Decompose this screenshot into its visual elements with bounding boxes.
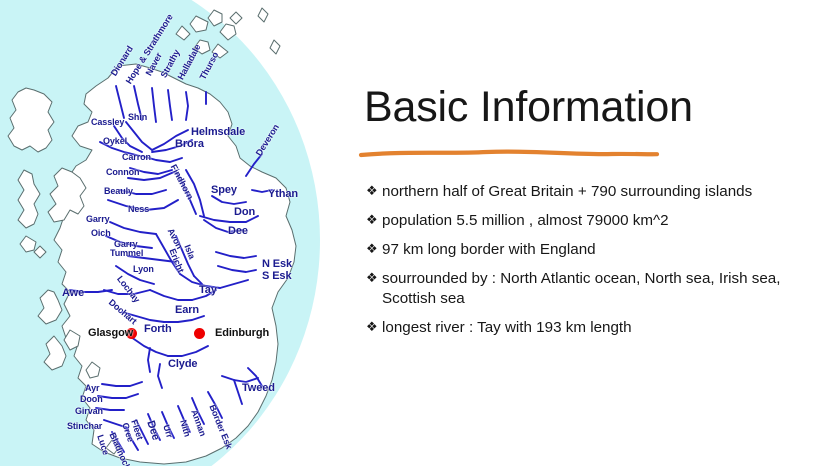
city-marker-dot (194, 328, 205, 339)
river-label: Cassley (91, 117, 124, 127)
river-label: Garry (86, 214, 110, 224)
river-label: Dee (228, 225, 248, 237)
river-label: Spey (211, 184, 237, 196)
river-label: Don (234, 206, 255, 218)
city-label: Glasgow (88, 327, 133, 339)
page-title: Basic Information (364, 83, 693, 132)
river-label: Tummel (110, 248, 143, 258)
diamond-bullet-icon: ❖ (366, 211, 382, 229)
river-label: N Esk (262, 258, 292, 270)
bullet-text: longest river : Tay with 193 km length (382, 318, 818, 338)
river-label: Forth (144, 323, 172, 335)
bullet-text: northern half of Great Britain + 790 sur… (382, 182, 818, 202)
diamond-bullet-icon: ❖ (366, 318, 382, 336)
river-label: Lyon (133, 264, 154, 274)
diamond-bullet-icon: ❖ (366, 240, 382, 258)
river-label: Ayr (85, 383, 99, 393)
slide-canvas: DionardHope & StrathmoreNaverStrathyHall… (0, 0, 828, 466)
bullet-text: sourrounded by : North Atlantic ocean, N… (382, 269, 818, 309)
river-label: S Esk (262, 270, 291, 282)
bullet-item: ❖97 km long border with England (366, 240, 818, 260)
river-label: Carron (122, 152, 151, 162)
river-label: Connon (106, 167, 139, 177)
river-label: Ness (128, 204, 149, 214)
river-label: Beauly (104, 186, 133, 196)
bullet-item: ❖northern half of Great Britain + 790 su… (366, 182, 818, 202)
river-label: Stinchar (67, 421, 102, 431)
bullet-text: 97 km long border with England (382, 240, 818, 260)
bullet-text: population 5.5 million , almost 79000 km… (382, 211, 818, 231)
river-label: Girvan (75, 406, 103, 416)
river-label: Brora (175, 138, 204, 150)
river-label: Oich (91, 228, 111, 238)
river-label: Tweed (242, 382, 275, 394)
scotland-rivers-map: DionardHope & StrathmoreNaverStrathyHall… (0, 0, 340, 466)
bullet-item: ❖sourrounded by : North Atlantic ocean, … (366, 269, 818, 309)
content-panel: Basic Information ❖northern half of Grea… (352, 0, 828, 466)
city-label: Edinburgh (215, 327, 269, 339)
title-underline-accent (357, 146, 667, 160)
bullet-item: ❖longest river : Tay with 193 km length (366, 318, 818, 338)
river-label: Doon (80, 394, 103, 404)
bullet-list: ❖northern half of Great Britain + 790 su… (366, 182, 818, 347)
river-label: Shin (128, 112, 147, 122)
river-label: Tay (199, 284, 217, 296)
river-label: Oykel (103, 136, 127, 146)
river-label: Helmsdale (191, 126, 245, 138)
river-label: Earn (175, 304, 199, 316)
diamond-bullet-icon: ❖ (366, 269, 382, 287)
bullet-item: ❖population 5.5 million , almost 79000 k… (366, 211, 818, 231)
diamond-bullet-icon: ❖ (366, 182, 382, 200)
river-label: Clyde (168, 358, 197, 370)
river-label: Awe (62, 287, 84, 299)
river-label: Ythan (268, 188, 298, 200)
